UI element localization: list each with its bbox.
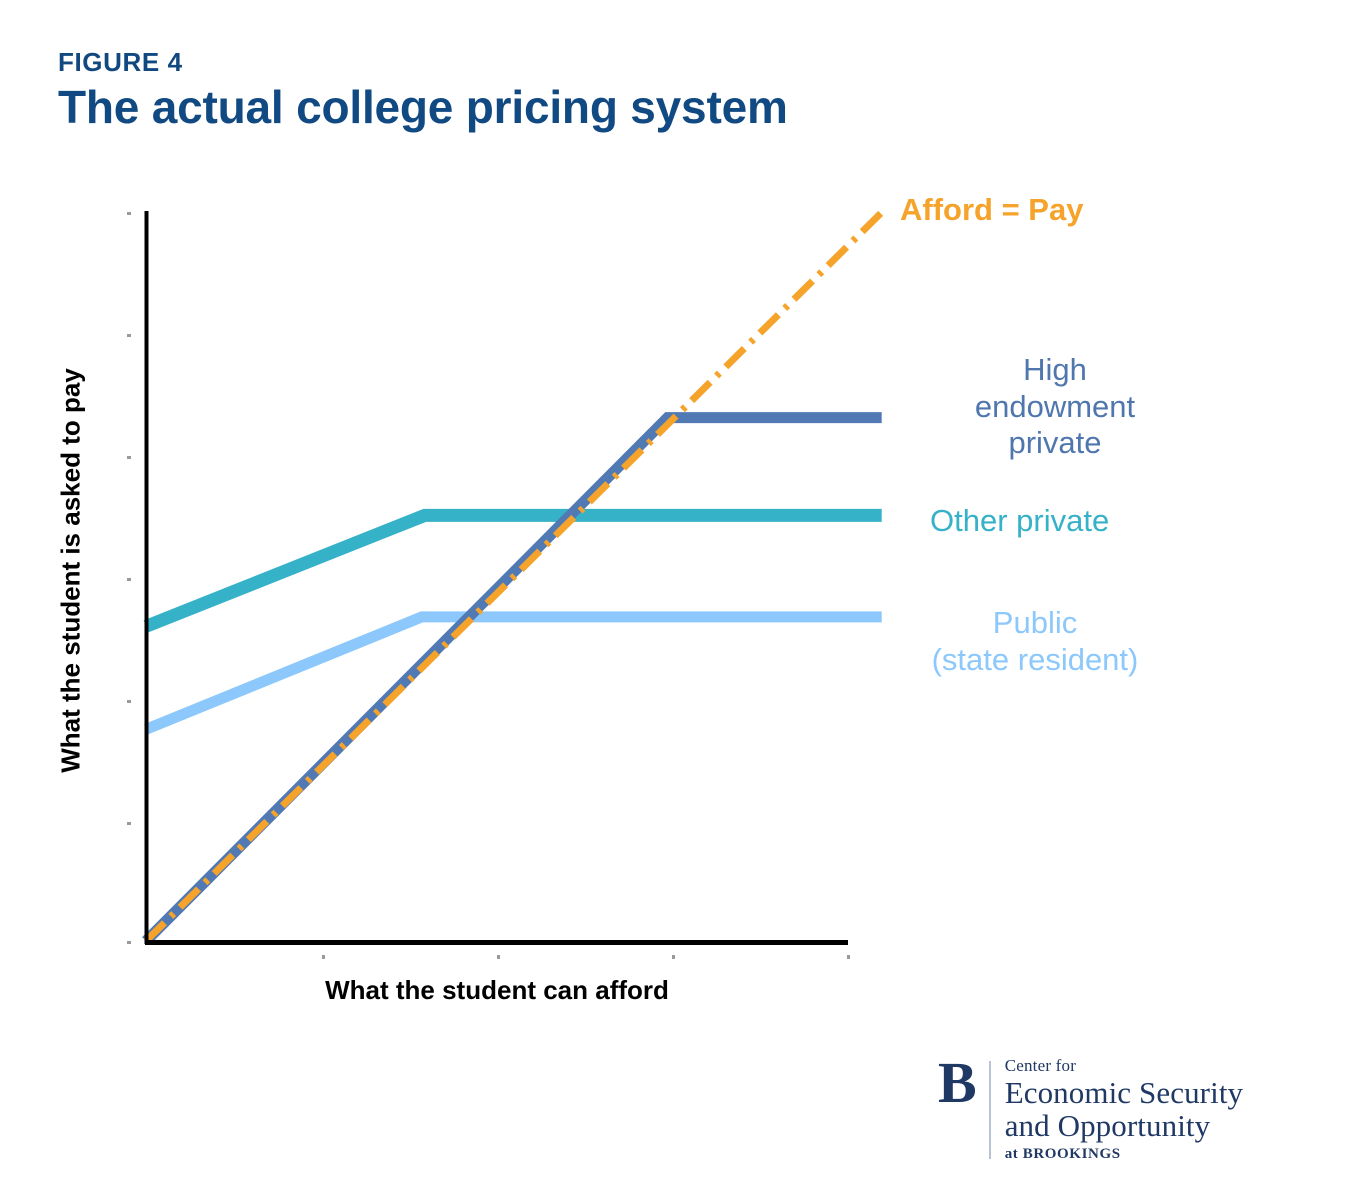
brookings-monogram-b: B xyxy=(938,1055,989,1110)
x-axis-title: What the student can afford xyxy=(146,975,848,1006)
y-axis-title: What the student is asked to pay xyxy=(56,301,87,841)
series-label-high-endowment-line3: private xyxy=(930,425,1180,462)
chart-plot-area: What the student is asked to pay What th… xyxy=(0,0,1350,1040)
logo-center-for: Center for xyxy=(1005,1057,1243,1076)
series-line-public-state-resident xyxy=(146,617,882,729)
brookings-logo: B Center for Economic Security and Oppor… xyxy=(938,1055,1243,1165)
series-label-public-line1: Public xyxy=(890,605,1180,642)
logo-divider xyxy=(989,1061,991,1159)
series-label-public-state-resident: Public (state resident) xyxy=(890,605,1180,678)
y-axis-ticks xyxy=(127,212,131,944)
series-label-public-line2: (state resident) xyxy=(890,642,1180,679)
logo-text-block: Center for Economic Security and Opportu… xyxy=(1005,1055,1243,1165)
x-axis-ticks xyxy=(322,955,850,959)
logo-line-economic-security: Economic Security xyxy=(1005,1076,1243,1109)
logo-line-and-opportunity: and Opportunity xyxy=(1005,1109,1243,1142)
logo-at-brookings: at BROOKINGS xyxy=(1005,1143,1243,1166)
series-label-other-private: Other private xyxy=(930,503,1190,540)
series-label-high-endowment-line1: High xyxy=(930,352,1180,389)
series-label-high-endowment-private: High endowment private xyxy=(930,352,1180,462)
series-label-afford-equals-pay: Afford = Pay xyxy=(900,192,1320,229)
series-label-high-endowment-line2: endowment xyxy=(930,389,1180,426)
